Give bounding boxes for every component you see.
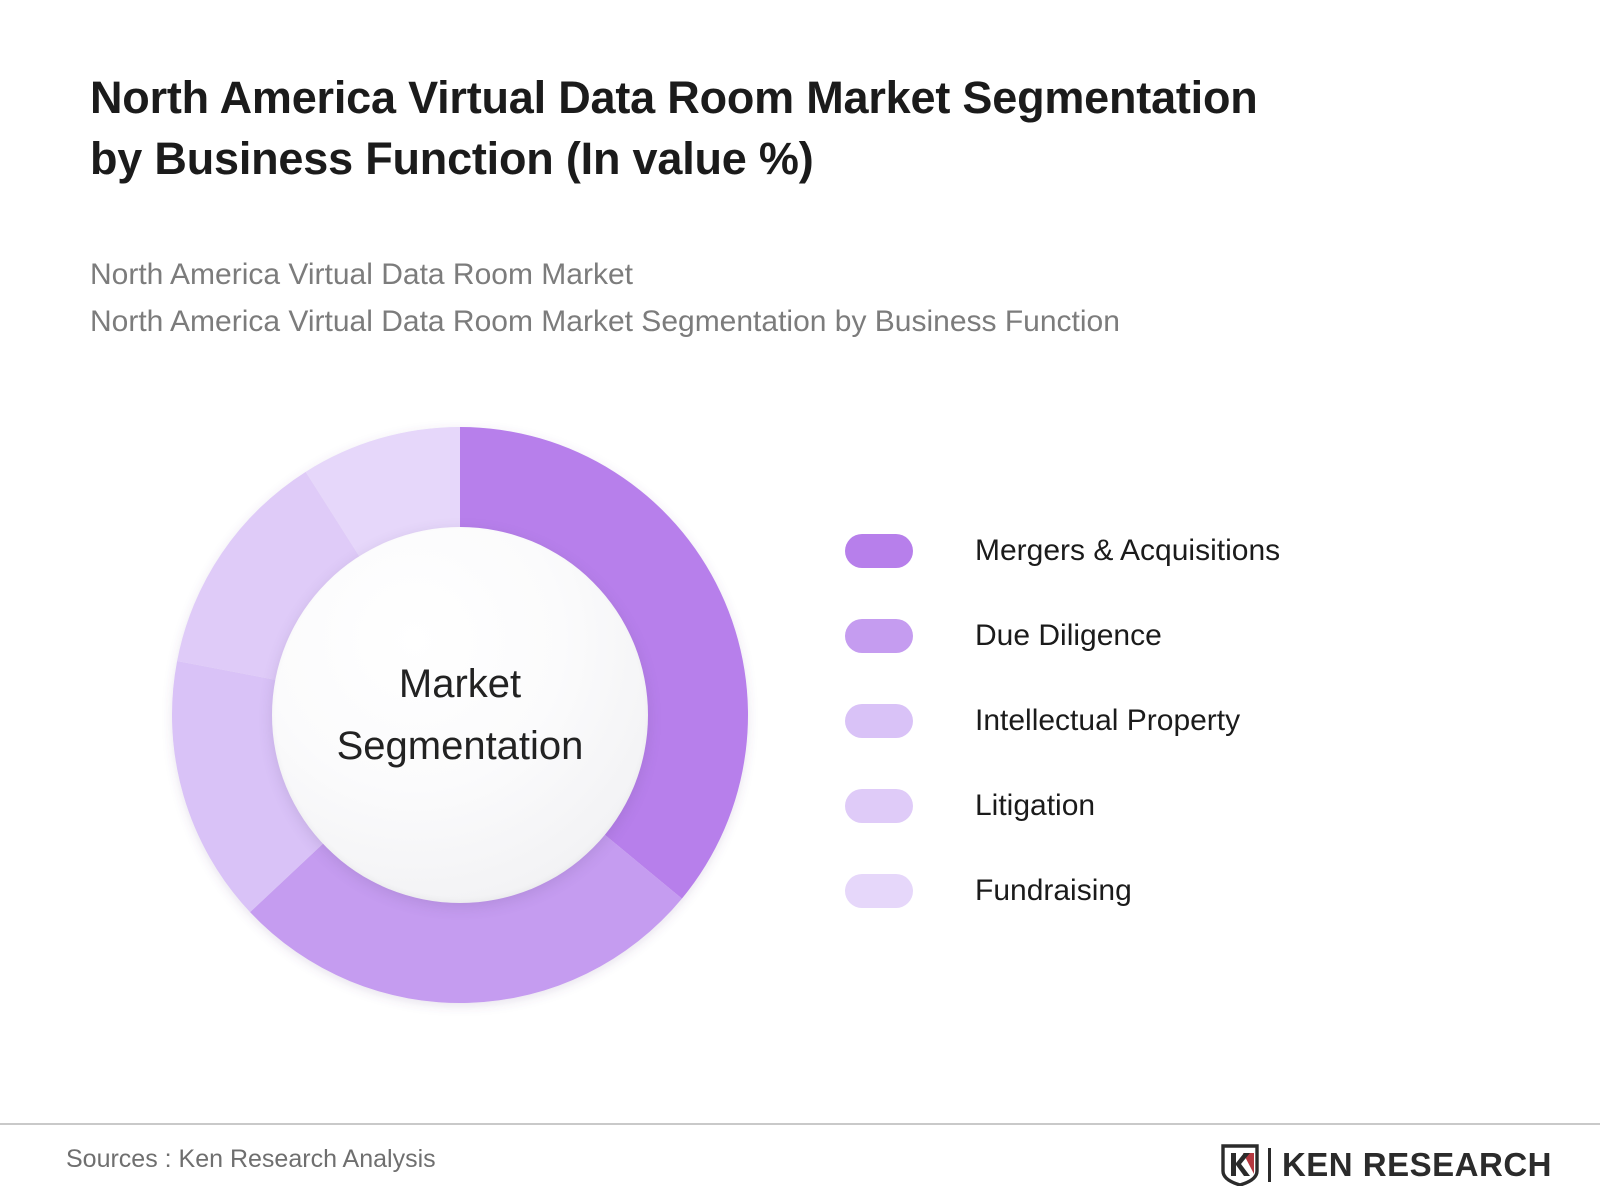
legend-swatch-icon: [845, 789, 913, 823]
donut-center-line-1: Market: [399, 653, 521, 715]
page-title: North America Virtual Data Room Market S…: [90, 68, 1470, 190]
donut-chart: Market Segmentation: [150, 405, 770, 1025]
legend-item[interactable]: Due Diligence: [845, 593, 1445, 678]
legend-swatch-icon: [845, 874, 913, 908]
page-subtitle: North America Virtual Data Room Market N…: [90, 252, 1490, 345]
legend-item[interactable]: Mergers & Acquisitions: [845, 508, 1445, 593]
legend-item-label: Mergers & Acquisitions: [975, 534, 1280, 568]
logo-text: KEN RESEARCH: [1282, 1146, 1552, 1184]
legend-item-label: Due Diligence: [975, 619, 1162, 653]
report-page: North America Virtual Data Room Market S…: [0, 0, 1600, 1200]
legend-item[interactable]: Intellectual Property: [845, 678, 1445, 763]
legend-item[interactable]: Fundraising: [845, 848, 1445, 933]
ken-research-logo: KEN RESEARCH: [1221, 1142, 1552, 1188]
footer-divider: [0, 1123, 1600, 1125]
page-title-line-2: by Business Function (In value %): [90, 129, 1470, 190]
donut-center-label: Market Segmentation: [272, 527, 648, 903]
legend-item[interactable]: Litigation: [845, 763, 1445, 848]
legend-item-label: Litigation: [975, 789, 1095, 823]
legend-swatch-icon: [845, 619, 913, 653]
logo-divider: [1268, 1148, 1271, 1182]
page-subtitle-line-1: North America Virtual Data Room Market: [90, 258, 633, 291]
legend-swatch-icon: [845, 704, 913, 738]
page-subtitle-line-2: North America Virtual Data Room Market S…: [90, 299, 1490, 346]
donut-center-line-2: Segmentation: [337, 715, 584, 777]
ken-research-shield-icon: [1221, 1144, 1259, 1186]
legend-item-label: Intellectual Property: [975, 704, 1240, 738]
page-title-line-1: North America Virtual Data Room Market S…: [90, 72, 1258, 123]
chart-legend: Mergers & AcquisitionsDue DiligenceIntel…: [845, 508, 1445, 933]
sources-text: Sources : Ken Research Analysis: [66, 1145, 436, 1174]
legend-swatch-icon: [845, 534, 913, 568]
legend-item-label: Fundraising: [975, 874, 1132, 908]
